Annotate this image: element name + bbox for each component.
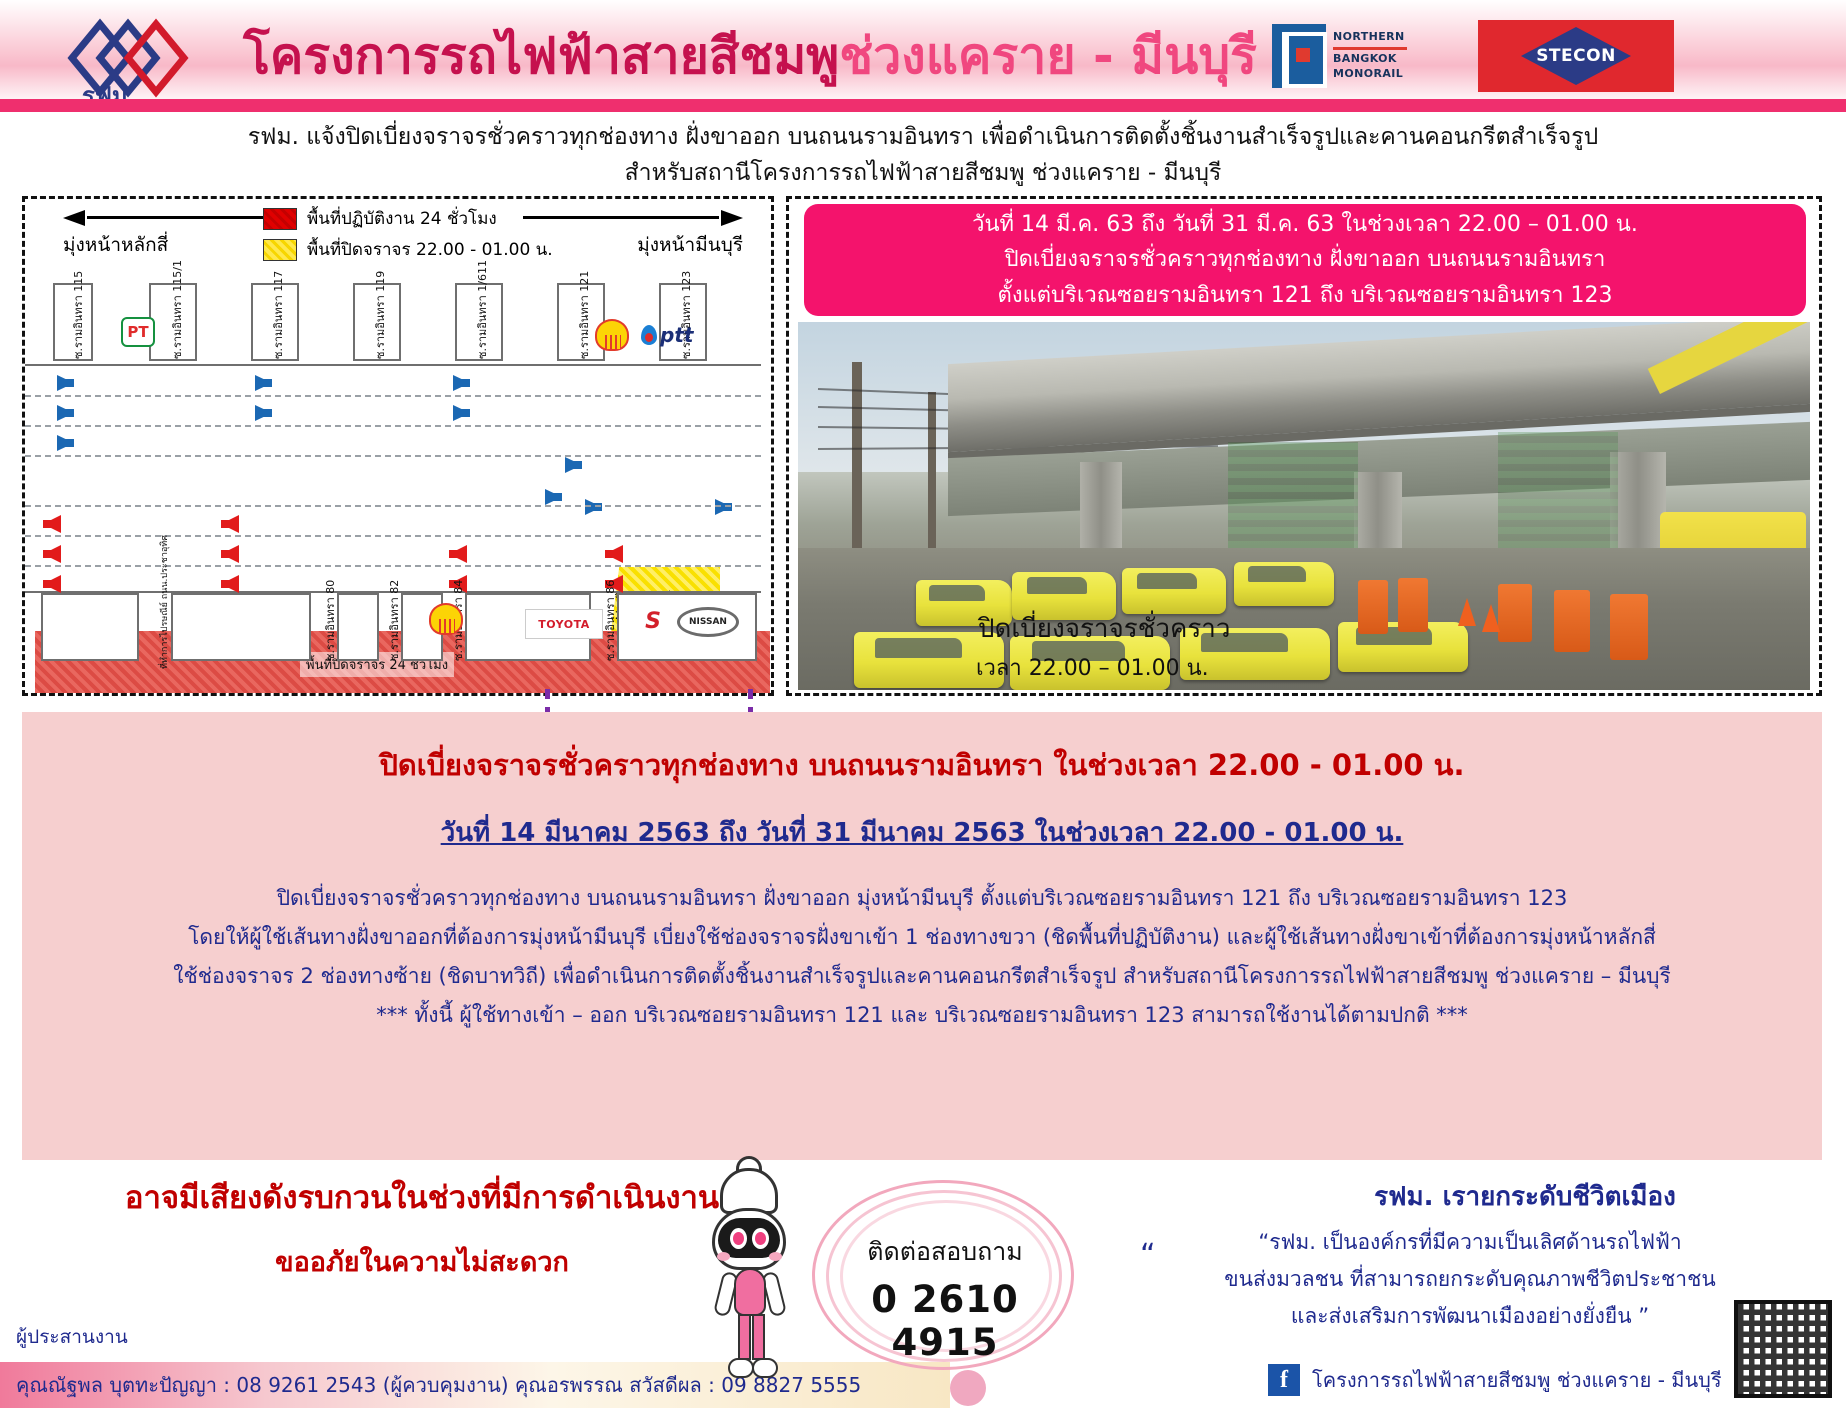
traffic-arrow-west-6 — [221, 575, 239, 593]
post-office-label: ที่ทำการไปรษณีย์ ถนน.ประชาอุทิศ — [157, 535, 171, 669]
traffic-arrow-divert-2 — [585, 499, 602, 515]
construction-site-photo: ปิดเบี่ยงจราจรชั่วคราว เวลา 22.00 – 01.0… — [798, 322, 1810, 690]
coordinator-label: ผู้ประสานงาน — [16, 1322, 128, 1352]
mrta-vision-quote: “รฟม. เป็นองค์กรที่มีความเป็นเลิศด้านรถไ… — [1170, 1224, 1770, 1334]
ptt-drop-icon — [641, 325, 657, 345]
traffic-arrow-east-6 — [453, 375, 470, 391]
traffic-arrow-west-7 — [449, 545, 467, 563]
soi-label-top-6: ซ.รามอินทรา 121 — [575, 271, 593, 359]
photo-barrier-4 — [1554, 590, 1590, 652]
soi-label-top-3: ซ.รามอินทรา 117 — [269, 271, 287, 359]
traffic-arrow-west-1 — [43, 515, 61, 533]
stecon-logo: STECON — [1478, 20, 1674, 92]
soi-block-bottom-1 — [41, 593, 139, 661]
main-body-line-1: ปิดเบี่ยงจราจรชั่วคราวทุกช่องทาง บนถนนรา… — [22, 879, 1822, 918]
brand-logo-shell-top — [595, 319, 629, 351]
schedule-banner: วันที่ 14 มี.ค. 63 ถึง วันที่ 31 มี.ค. 6… — [804, 204, 1806, 316]
arrow-left-icon — [63, 209, 273, 225]
traffic-arrow-east-4 — [255, 375, 272, 391]
photo-barrier-1 — [1358, 580, 1388, 634]
soi-label-bottom-4: ซ.รามอินทรา 86 — [601, 580, 619, 661]
decorative-dot — [950, 1370, 986, 1406]
soi-block-bottom-3 — [337, 593, 379, 661]
legend-item-work-zone: พื้นที่ปฏิบัติงาน 24 ชั่วโมง — [263, 205, 583, 232]
noise-warning-line-1: อาจมีเสียงดังรบกวนในช่วงที่มีการดำเนินงา… — [72, 1172, 772, 1222]
qr-code-pattern — [1738, 1304, 1828, 1394]
pt-icon: PT — [121, 317, 155, 347]
main-dates: วันที่ 14 มีนาคม 2563 ถึง วันที่ 31 มีนา… — [22, 812, 1822, 853]
quote-line-1: “รฟม. เป็นองค์กรที่มีความเป็นเลิศด้านรถไ… — [1170, 1224, 1770, 1261]
soi-label-top-5: ซ.รามอินทรา 1/611 — [473, 260, 491, 359]
traffic-arrow-west-9 — [605, 545, 623, 563]
traffic-arrow-east-5 — [255, 405, 272, 421]
traffic-arrow-west-2 — [43, 545, 61, 563]
announcement-subtitle: รฟม. แจ้งปิดเบี่ยงจราจรชั่วคราวทุกช่องทา… — [0, 120, 1846, 191]
nbm-line-2: BANGKOK — [1333, 52, 1407, 67]
traffic-arrow-divert-4 — [715, 499, 732, 515]
schedule-banner-line-1: วันที่ 14 มี.ค. 63 ถึง วันที่ 31 มี.ค. 6… — [972, 207, 1638, 243]
page-title-main: โครงการรถไฟฟ้าสายสีชมพู — [243, 17, 839, 96]
main-body-line-2: โดยให้ผู้ใช้เส้นทางฝั่งขาออกที่ต้องการมุ… — [22, 918, 1822, 957]
soi-label-bottom-1: ซ.รามอินทรา 80 — [321, 580, 339, 661]
quote-line-2: ขนส่งมวลชน ที่สามารถยกระดับคุณภาพชีวิตปร… — [1170, 1261, 1770, 1298]
legend-swatch-yellow-icon — [263, 239, 297, 261]
stecon-logo-text: STECON — [1536, 46, 1616, 66]
brand-logo-ptt: ptt — [641, 323, 693, 347]
contact-phone-number[interactable]: 0 2610 4915 — [820, 1278, 1070, 1364]
northern-bangkok-monorail-logo: NORTHERN BANGKOK MONORAIL — [1272, 22, 1462, 90]
main-body-line-4: *** ทั้งนี้ ผู้ใช้ทางเข้า – ออก บริเวณซอ… — [22, 996, 1822, 1035]
photo-scaffold-net-1 — [1228, 442, 1358, 562]
traffic-arrow-divert-1 — [545, 489, 562, 505]
mrta-slogan: รฟม. เรายกระดับชีวิตเมือง — [1290, 1176, 1760, 1217]
mascot-foot-right — [752, 1358, 778, 1378]
soi-block-bottom-2 — [171, 593, 311, 661]
photo-taxi-4 — [1234, 562, 1334, 606]
brand-logo-shell-bottom — [429, 603, 463, 635]
traffic-arrow-divert-3 — [565, 457, 582, 473]
soi-label-top-4: ซ.รามอินทรา 119 — [371, 271, 389, 359]
subtitle-line-2: สำหรับสถานีโครงการรถไฟฟ้าสายสีชมพู ช่วงแ… — [0, 156, 1846, 192]
contact-block: ติดต่อสอบถาม 0 2610 4915 — [812, 1180, 1082, 1380]
toyota-icon: TOYOTA — [525, 609, 603, 639]
page-title: โครงการรถไฟฟ้าสายสีชมพู ช่วงแคราย - มีนบ… — [250, 18, 1250, 94]
soi-label-top-2: ซ.รามอินทรา 115/1 — [168, 260, 186, 359]
subtitle-line-1: รฟม. แจ้งปิดเบี่ยงจราจรชั่วคราวทุกช่องทา… — [0, 120, 1846, 156]
photo-barrier-3 — [1498, 584, 1532, 642]
mascot-cheek-right — [769, 1252, 782, 1261]
traffic-arrow-west-5 — [221, 545, 239, 563]
shell-icon-2 — [429, 603, 463, 635]
photo-caption-line-2: เวลา 22.00 – 01.00 น. — [976, 650, 1209, 685]
facebook-page-name[interactable]: โครงการรถไฟฟ้าสายสีชมพู ช่วงแคราย - มีนบ… — [1312, 1364, 1722, 1396]
traffic-arrow-east-3 — [57, 435, 74, 451]
page-title-segment: ช่วงแคราย - มีนบุรี — [839, 17, 1257, 96]
qr-code[interactable] — [1734, 1300, 1832, 1398]
nbm-line-1: NORTHERN — [1333, 30, 1407, 45]
legend-item-close-zone: พื้นที่ปิดจราจร 22.00 - 01.00 น. — [263, 236, 583, 263]
mascot-body — [734, 1268, 766, 1316]
nbm-divider — [1333, 47, 1407, 50]
noise-warning-line-2: ขออภัยในความไม่สะดวก — [72, 1240, 772, 1283]
nissan-icon: NISSAN — [677, 607, 739, 637]
schedule-banner-line-2: ปิดเบี่ยงจราจรชั่วคราวทุกช่องทาง ฝั่งขาอ… — [1005, 242, 1606, 278]
page-header: รฟม โครงการรถไฟฟ้าสายสีชมพู ช่วงแคราย - … — [0, 0, 1846, 112]
traffic-arrow-east-1 — [57, 375, 74, 391]
map-legend: พื้นที่ปฏิบัติงาน 24 ชั่วโมง พื้นที่ปิดจ… — [263, 205, 583, 267]
legend-label-work-zone: พื้นที่ปฏิบัติงาน 24 ชั่วโมง — [307, 205, 497, 232]
main-body-text: ปิดเบี่ยงจราจรชั่วคราวทุกช่องทาง บนถนนรา… — [22, 879, 1822, 1034]
quote-open-mark: “ — [1140, 1238, 1156, 1273]
main-body-line-3: ใช้ช่องจราจร 2 ช่องทางซ้าย (ชิดบาทวิถี) … — [22, 957, 1822, 996]
photo-cone-1 — [1458, 598, 1476, 626]
quote-line-3: และส่งเสริมการพัฒนาเมืองอย่างยั่งยืน ” — [1170, 1298, 1770, 1335]
schedule-banner-line-3: ตั้งแต่บริเวณซอยรามอินทรา 121 ถึง บริเวณ… — [998, 278, 1613, 314]
brand-logo-pt: PT — [121, 317, 155, 347]
soi-label-bottom-2: ซ.รามอินทรา 82 — [385, 580, 403, 661]
traffic-diagram-panel: มุ่งหน้าหลักสี่ มุ่งหน้ามีนบุรี พื้นที่ป… — [22, 196, 774, 696]
photo-scaffold-net-2 — [1498, 432, 1618, 562]
facebook-link[interactable]: f โครงการรถไฟฟ้าสายสีชมพู ช่วงแคราย - มี… — [1268, 1364, 1722, 1396]
photo-caption-line-1: ปิดเบี่ยงจราจรชั่วคราว — [978, 608, 1231, 649]
shell-icon — [595, 319, 629, 351]
nbm-mark-icon — [1272, 24, 1326, 88]
photo-barrier-5 — [1610, 594, 1648, 660]
traffic-arrow-east-7 — [453, 405, 470, 421]
mascot-foot-left — [728, 1358, 754, 1378]
mascot-leg-right — [752, 1314, 765, 1360]
nbm-line-3: MONORAIL — [1333, 67, 1407, 82]
photo-utility-pole-1 — [852, 362, 862, 562]
soi-label-top-1: ซ.รามอินทรา 115 — [69, 271, 87, 359]
traffic-arrow-west-3 — [43, 575, 61, 593]
facebook-icon[interactable]: f — [1268, 1364, 1300, 1396]
direction-label-west: มุ่งหน้าหลักสี่ — [63, 230, 273, 260]
mascot-leg-left — [738, 1314, 751, 1360]
mascot-eye-left — [730, 1228, 747, 1249]
main-info-block: ปิดเบี่ยงจราจรชั่วคราวทุกช่องทาง บนถนนรา… — [22, 712, 1822, 1160]
main-headline: ปิดเบี่ยงจราจรชั่วคราวทุกช่องทาง บนถนนรา… — [22, 742, 1822, 788]
brand-logo-nissan: NISSAN — [677, 607, 739, 637]
traffic-arrow-east-2 — [57, 405, 74, 421]
brand-logo-toyota: TOYOTA — [525, 609, 603, 639]
suzuki-icon: S — [633, 607, 673, 635]
mrta-logo: รฟม — [42, 10, 202, 106]
photo-utility-pole-2 — [928, 392, 936, 562]
legend-swatch-red-icon — [263, 208, 297, 230]
brand-logo-suzuki: S — [633, 607, 673, 635]
ptt-text-icon: ptt — [660, 323, 693, 347]
photo-cone-2 — [1482, 604, 1500, 632]
legend-label-close-zone: พื้นที่ปิดจราจร 22.00 - 01.00 น. — [307, 236, 553, 263]
mascot-eye-right — [752, 1228, 769, 1249]
header-accent-bar — [0, 99, 1846, 106]
mrta-mascot — [690, 1168, 810, 1398]
nbm-logo-text: NORTHERN BANGKOK MONORAIL — [1333, 30, 1407, 82]
mascot-cheek-left — [717, 1252, 730, 1261]
photo-barrier-2 — [1398, 578, 1428, 632]
direction-indicator-west: มุ่งหน้าหลักสี่ — [63, 209, 273, 260]
stecon-diamond-icon: STECON — [1521, 27, 1631, 85]
traffic-arrow-west-4 — [221, 515, 239, 533]
contact-label: ติดต่อสอบถาม — [830, 1232, 1060, 1272]
